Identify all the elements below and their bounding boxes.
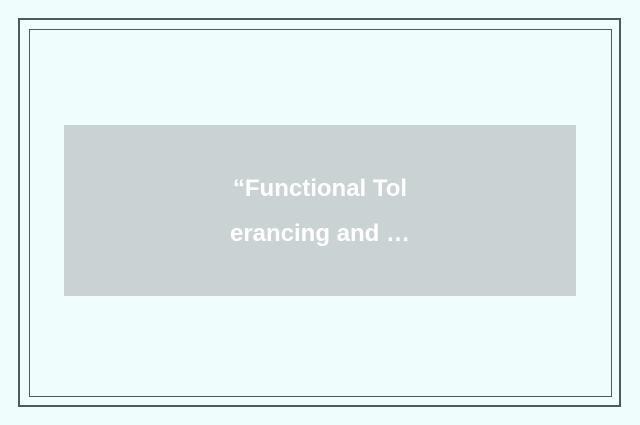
page-canvas: “Functional Tol erancing and … (0, 0, 640, 425)
image-placeholder-box[interactable]: “Functional Tol erancing and … (64, 125, 576, 296)
placeholder-title-text: “Functional Tol erancing and … (222, 166, 418, 256)
